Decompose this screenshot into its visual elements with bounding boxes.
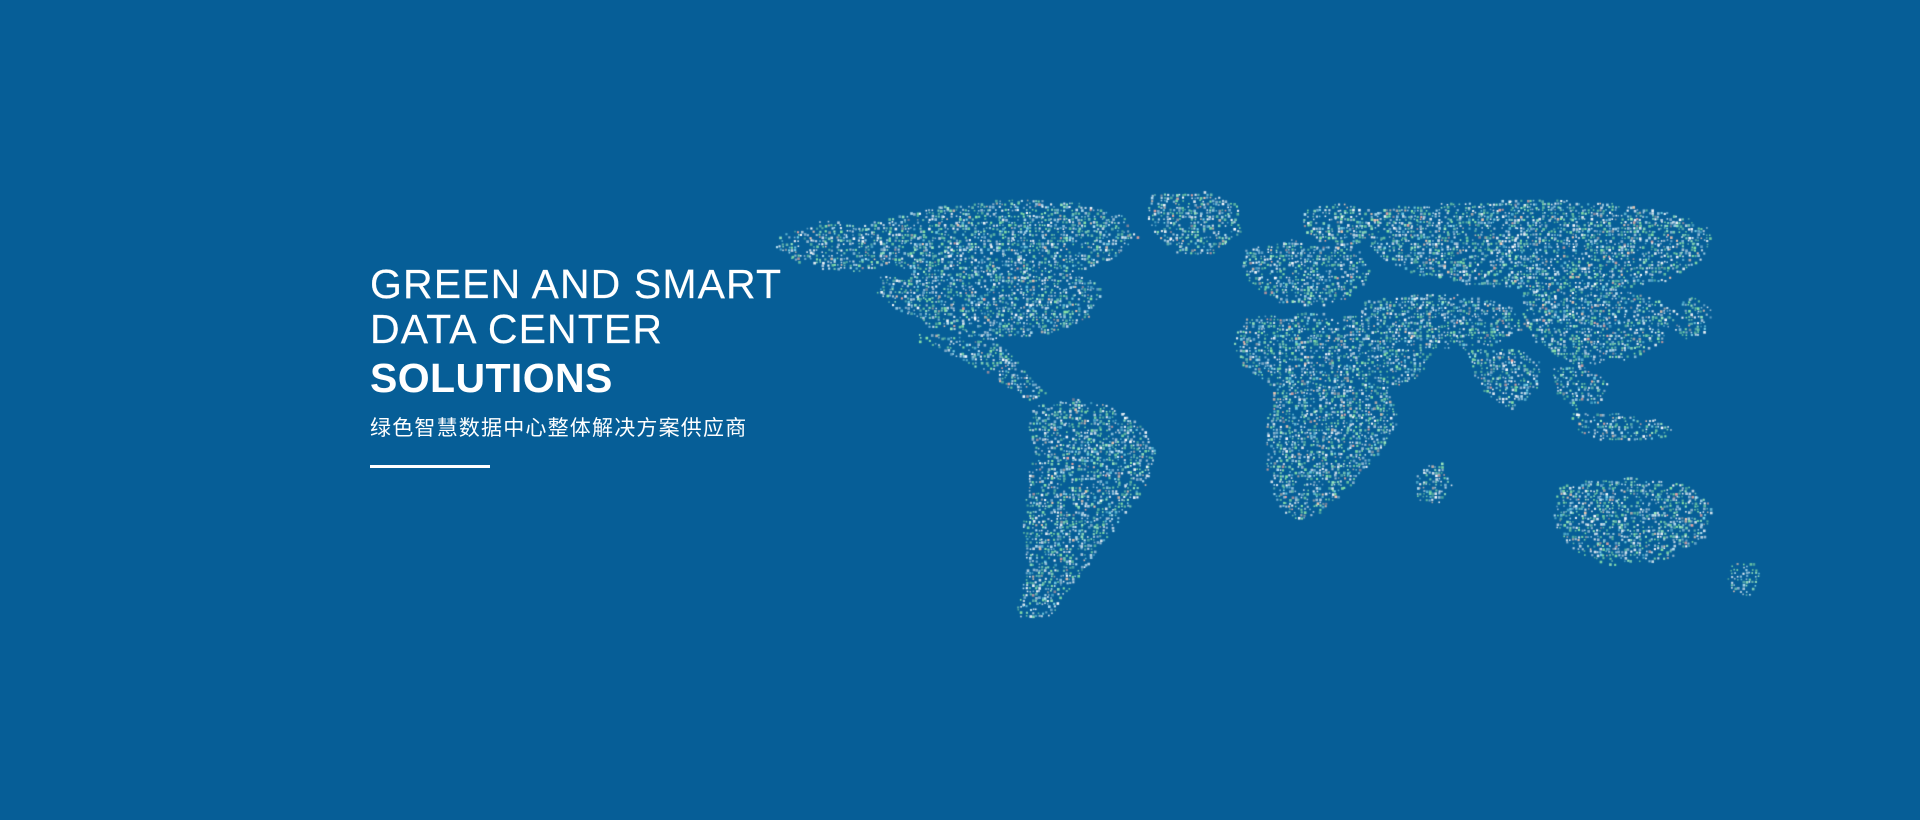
headline-line-2: DATA CENTER [370,307,1130,352]
headline-line-1: GREEN AND SMART [370,262,1130,307]
headline-block: GREEN AND SMART DATA CENTER SOLUTIONS 绿色… [370,262,1130,468]
headline-line-3: SOLUTIONS [370,352,1130,404]
hero-banner: GREEN AND SMART DATA CENTER SOLUTIONS 绿色… [0,0,1920,820]
headline-subtitle: 绿色智慧数据中心整体解决方案供应商 [370,413,1130,443]
headline-divider-rule [370,465,490,468]
